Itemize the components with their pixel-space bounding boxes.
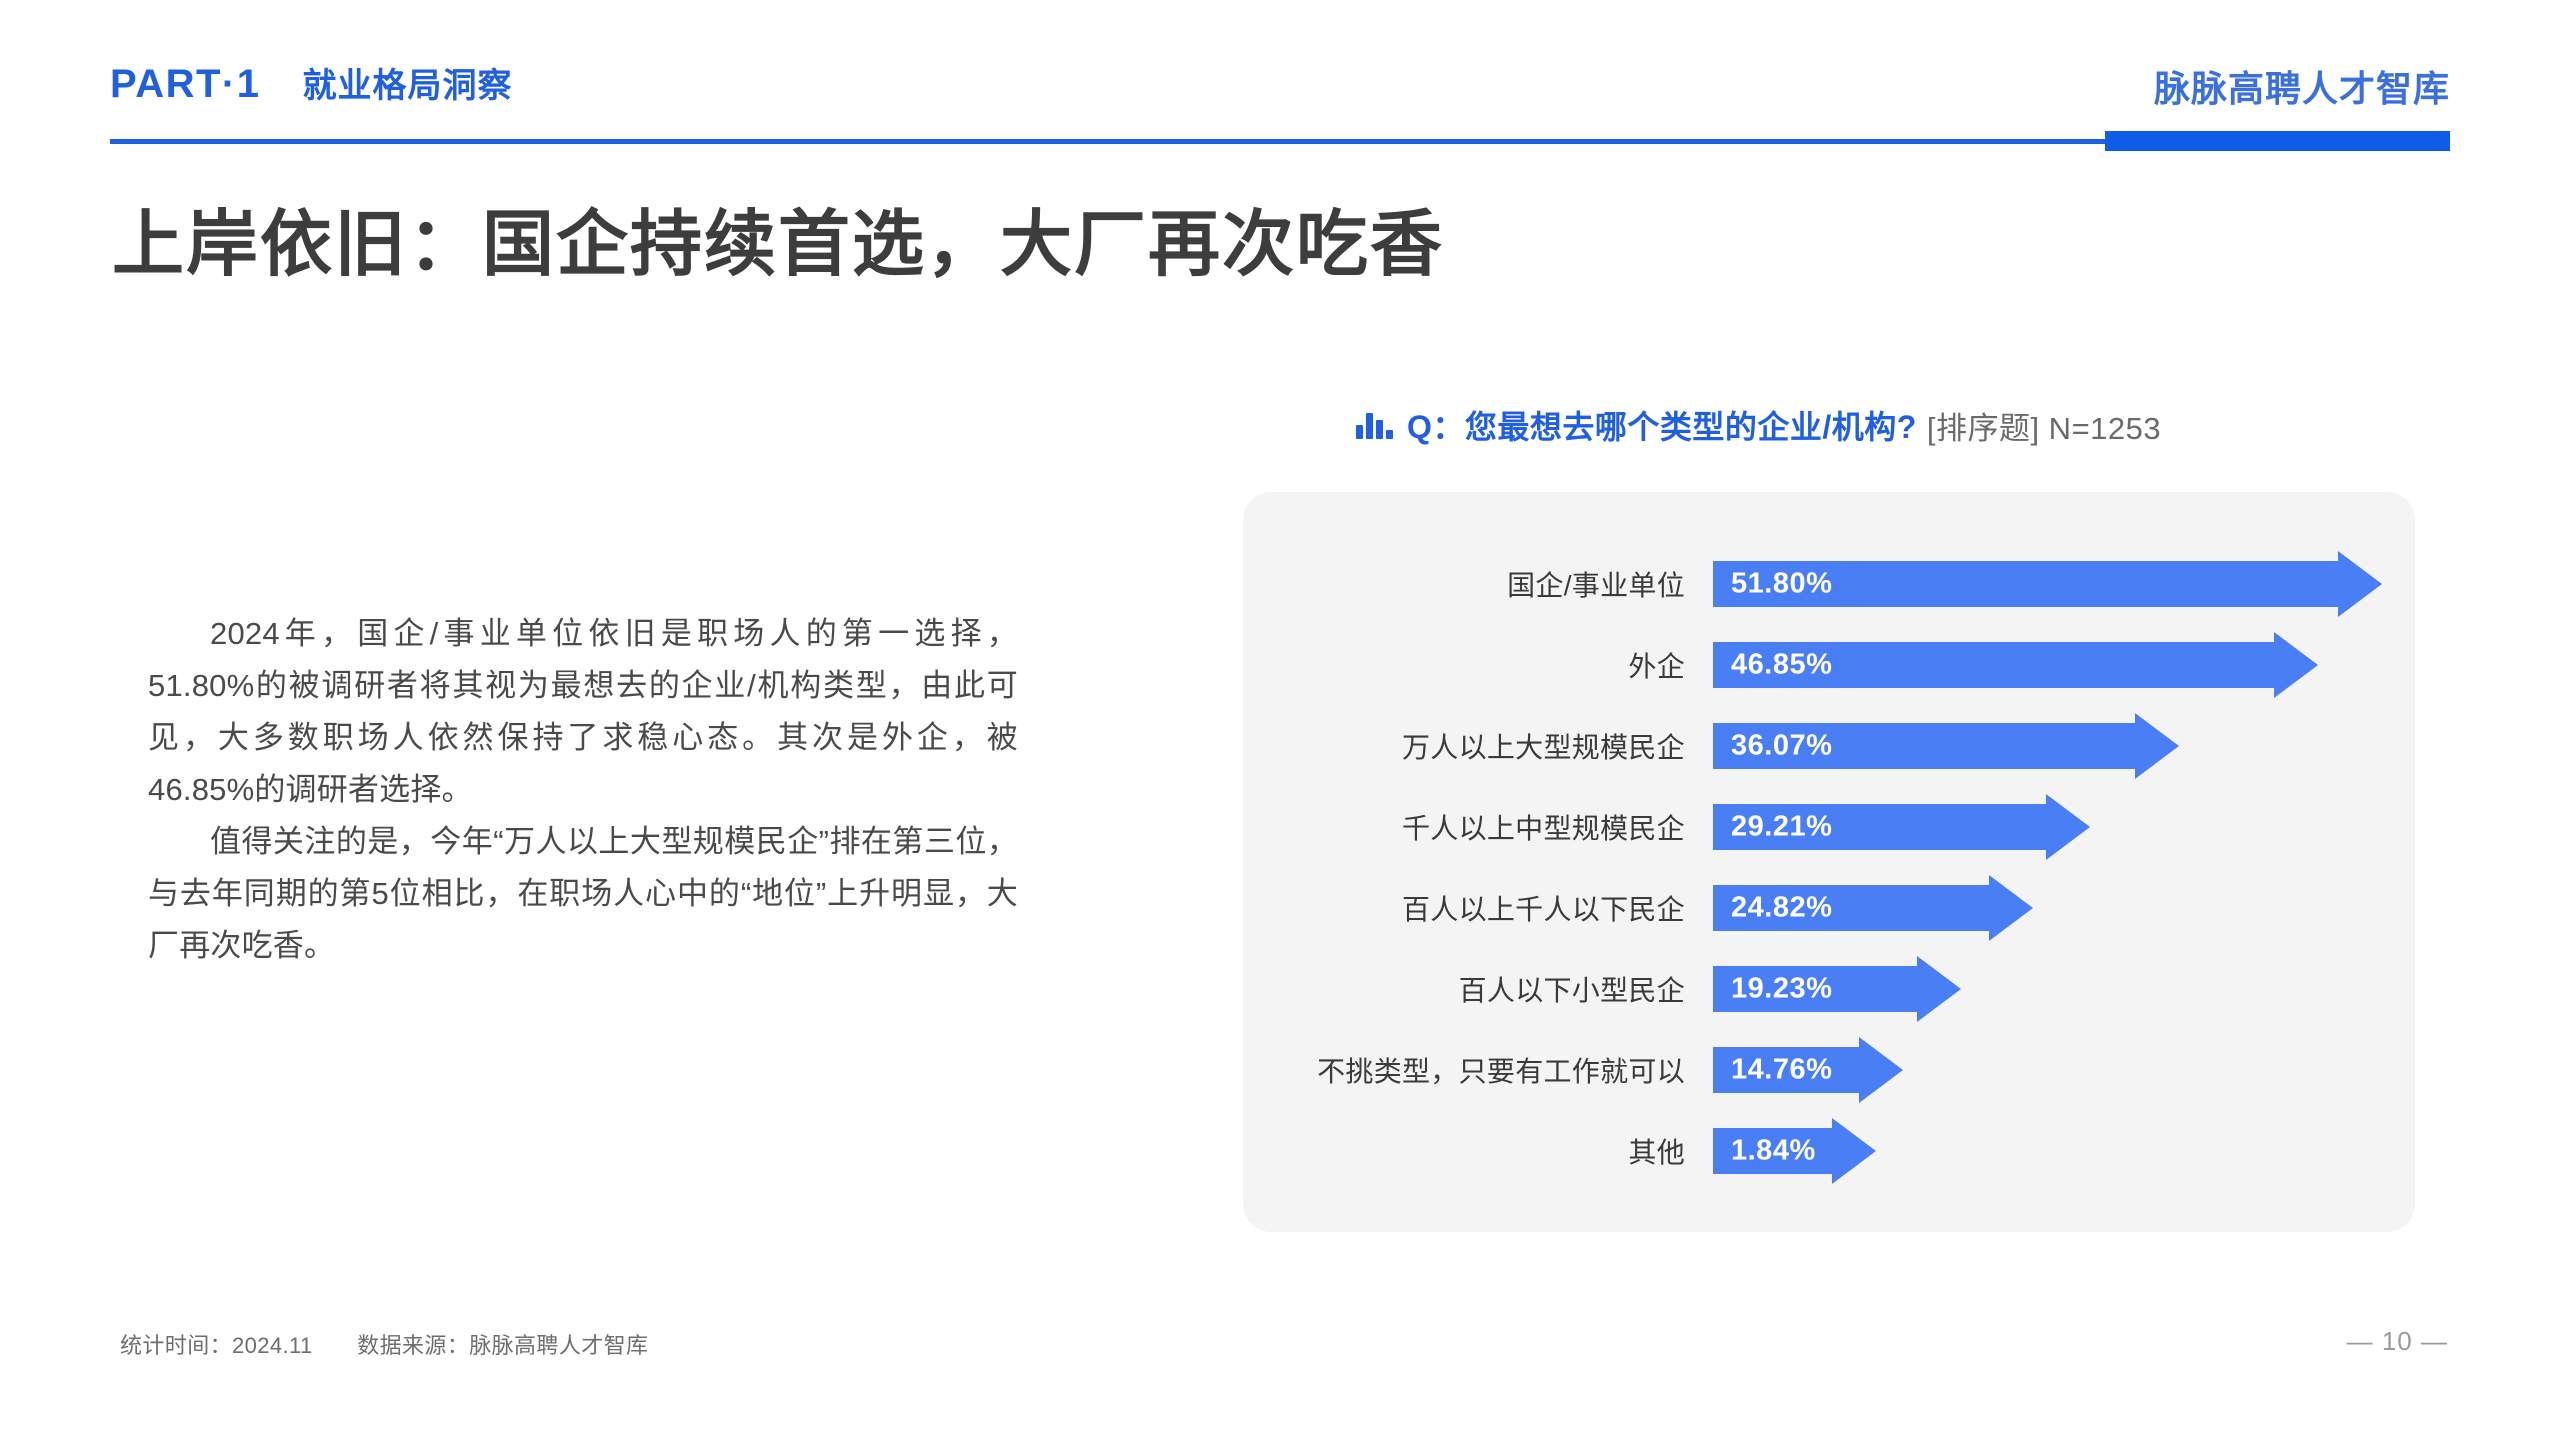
chart-row: 千人以上中型规模民企29.21% — [1243, 789, 2415, 864]
bar-chart-icon — [1356, 411, 1393, 439]
chart-row-label: 其他 — [1243, 1131, 1713, 1171]
footer-data-source: 数据来源：脉脉高聘人才智库 — [357, 1333, 648, 1358]
chart-bar-value: 36.07% — [1731, 729, 1832, 762]
chart-bar-area: 14.76% — [1713, 1032, 2415, 1107]
chart-arrow-head — [1859, 1037, 1903, 1103]
chart-row: 其他1.84% — [1243, 1113, 2415, 1188]
chart-row-label: 百人以上千人以下民企 — [1243, 888, 1713, 928]
brand-logo-text: 脉脉高聘人才智库 — [2154, 60, 2450, 112]
footer-stat-time: 统计时间：2024.11 — [120, 1333, 313, 1358]
chart-bar-value: 1.84% — [1731, 1134, 1816, 1167]
chart-bar-value: 51.80% — [1731, 567, 1832, 600]
chart-bar-value: 29.21% — [1731, 810, 1832, 843]
header-accent-bar — [2105, 131, 2450, 151]
chart-row-label: 百人以下小型民企 — [1243, 969, 1713, 1009]
chart-bar-area: 29.21% — [1713, 789, 2415, 864]
chart-bar-area: 51.80% — [1713, 546, 2415, 621]
slide-header: PART·1 就业格局洞察 脉脉高聘人才智库 — [110, 58, 2450, 128]
slide-root: PART·1 就业格局洞察 脉脉高聘人才智库 上岸依旧：国企持续首选，大厂再次吃… — [0, 0, 2560, 1440]
chart-bar-list: 国企/事业单位51.80%外企46.85%万人以上大型规模民企36.07%千人以… — [1243, 546, 2415, 1194]
chart-bar-value: 19.23% — [1731, 972, 1832, 1005]
chart-row-label: 千人以上中型规模民企 — [1243, 807, 1713, 847]
body-paragraph-1: 2024年，国企/事业单位依旧是职场人的第一选择，51.80%的被调研者将其视为… — [148, 608, 1018, 816]
chart-question-heading: Q：您最想去哪个类型的企业/机构? [排序题] N=1253 — [1356, 402, 2161, 448]
chart-row: 国企/事业单位51.80% — [1243, 546, 2415, 621]
part-label: PART·1 — [110, 62, 260, 107]
chart-row: 百人以上千人以下民企24.82% — [1243, 870, 2415, 945]
chart-row: 百人以下小型民企19.23% — [1243, 951, 2415, 1026]
chart-question-suffix: [排序题] N=1253 — [1927, 403, 2161, 448]
page-title: 上岸依旧：国企持续首选，大厂再次吃香 — [112, 185, 1444, 290]
chart-row-label: 外企 — [1243, 645, 1713, 685]
chart-arrow-head — [1832, 1118, 1876, 1184]
chart-question-text: Q：您最想去哪个类型的企业/机构? — [1407, 402, 1917, 448]
chart-row: 外企46.85% — [1243, 627, 2415, 702]
chart-arrow-head — [2338, 551, 2382, 617]
chart-bar-value: 46.85% — [1731, 648, 1832, 681]
chart-arrow-head — [1989, 875, 2033, 941]
chart-bar-area: 46.85% — [1713, 627, 2415, 702]
chart-bar-value: 24.82% — [1731, 891, 1832, 924]
chart-panel: 国企/事业单位51.80%外企46.85%万人以上大型规模民企36.07%千人以… — [1243, 492, 2415, 1232]
chart-row: 不挑类型，只要有工作就可以14.76% — [1243, 1032, 2415, 1107]
chart-arrow-head — [2274, 632, 2318, 698]
chart-arrow-head — [2046, 794, 2090, 860]
chart-bar-area: 24.82% — [1713, 870, 2415, 945]
chart-row-label: 国企/事业单位 — [1243, 564, 1713, 604]
chart-arrow-head — [1917, 956, 1961, 1022]
header-divider-line — [110, 139, 2450, 144]
chart-bar-area: 19.23% — [1713, 951, 2415, 1026]
chart-bar-area: 1.84% — [1713, 1113, 2415, 1188]
header-left-group: PART·1 就业格局洞察 — [110, 58, 512, 107]
chart-row: 万人以上大型规模民企36.07% — [1243, 708, 2415, 783]
body-paragraph-2: 值得关注的是，今年“万人以上大型规模民企”排在第三位，与去年同期的第5位相比，在… — [148, 816, 1018, 972]
chart-arrow-head — [2135, 713, 2179, 779]
body-copy: 2024年，国企/事业单位依旧是职场人的第一选择，51.80%的被调研者将其视为… — [148, 608, 1018, 972]
chart-row-label: 万人以上大型规模民企 — [1243, 726, 1713, 766]
chart-bar-area: 36.07% — [1713, 708, 2415, 783]
page-number: — 10 — — [2347, 1326, 2448, 1357]
part-title: 就业格局洞察 — [302, 58, 512, 107]
footer-note: 统计时间：2024.11 数据来源：脉脉高聘人才智库 — [120, 1328, 686, 1360]
chart-bar-value: 14.76% — [1731, 1053, 1832, 1086]
chart-row-label: 不挑类型，只要有工作就可以 — [1243, 1050, 1713, 1090]
